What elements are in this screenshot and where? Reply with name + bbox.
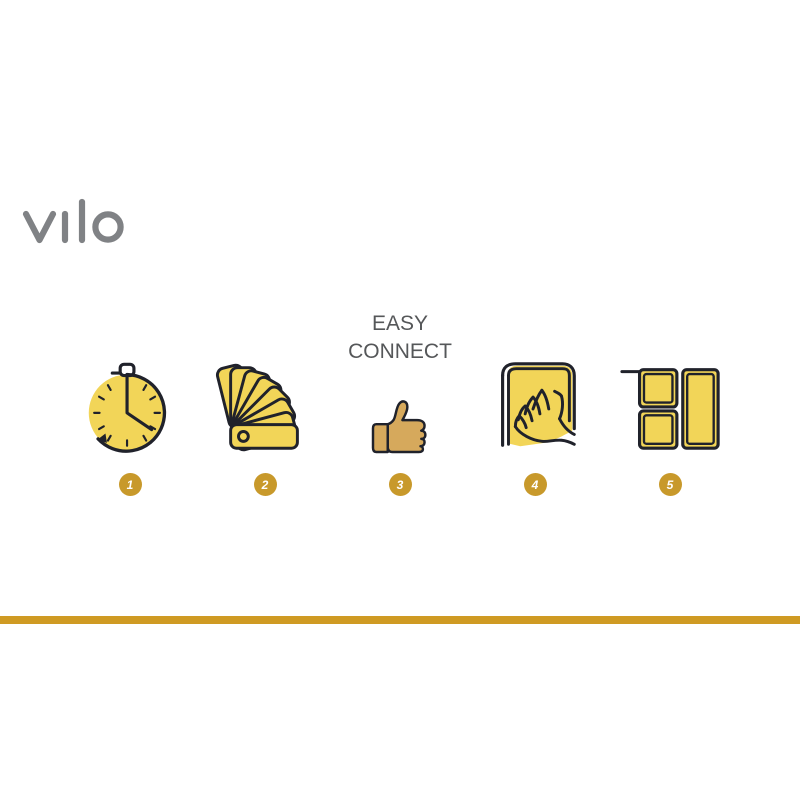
easy-connect-caption: EASY CONNECT [310,310,490,366]
step-3-badge: 3 [389,473,412,496]
gold-divider-bar [0,616,800,624]
hand-wiping-panel-icon [480,352,590,460]
thumbs-up-icon [355,396,445,454]
colour-swatch-fan-icon [210,352,320,460]
stopwatch-icon [75,352,185,460]
step-4[interactable]: 4 [475,296,595,496]
step-3[interactable]: EASY CONNECT 3 [340,296,460,496]
step-1[interactable]: 1 [70,296,190,496]
step-1-art [70,300,190,460]
step-4-art [475,300,595,460]
step-3-art: EASY CONNECT [340,300,460,460]
step-5-badge: 5 [659,473,682,496]
step-2-art [205,300,325,460]
step-5[interactable]: 5 [610,296,730,496]
step-2-badge: 2 [254,473,277,496]
steps-strip: 1 [70,296,730,496]
step-5-art [610,300,730,460]
brand-logo [20,196,130,252]
step-4-badge: 4 [524,473,547,496]
step-2[interactable]: 2 [205,296,325,496]
wall-panel-layout-icon [615,352,725,460]
step-1-badge: 1 [119,473,142,496]
